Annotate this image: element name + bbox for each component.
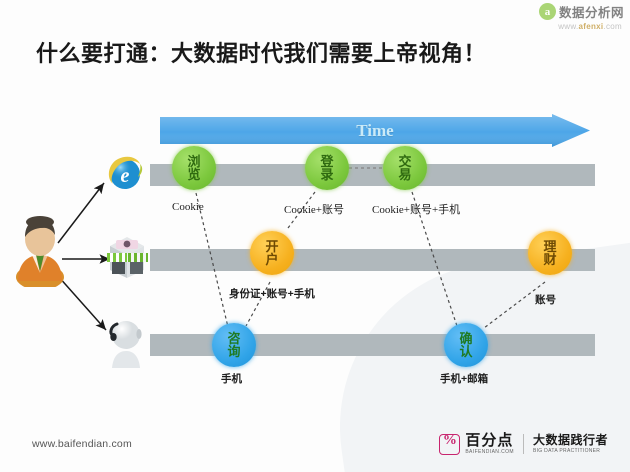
baifendian-name-en: BAIFENDIAN.COM: [465, 450, 514, 455]
link-liulan-zixun: [196, 193, 228, 327]
logo-divider: [523, 434, 524, 454]
node-zixun[interactable]: 咨询: [212, 323, 256, 367]
browser-ie-icon: e: [104, 152, 146, 194]
node-zixun-label: 咨询: [228, 332, 241, 358]
caption-jiaoyi: Cookie+账号+手机: [372, 201, 460, 217]
customer-avatar: [12, 215, 68, 287]
watermark: a 数据分析网 www.afenxi.com: [539, 2, 624, 31]
watermark-site-name: 数据分析网: [559, 2, 624, 21]
watermark-url-suffix: .com: [603, 22, 622, 31]
caption-denglu: Cookie+账号: [284, 201, 344, 217]
node-liulan-label: 浏览: [188, 155, 201, 181]
node-licai-label: 理财: [544, 240, 557, 266]
page-title: 什么要打通：大数据时代我们需要上帝视角！: [36, 36, 486, 68]
footer-url[interactable]: www.baifendian.com: [32, 438, 132, 450]
caption-kaihu: 身份证+账号+手机: [229, 286, 315, 301]
watermark-url-prefix: www.: [558, 22, 578, 31]
node-queren-label: 确认: [460, 332, 473, 358]
node-kaihu[interactable]: 开户: [250, 231, 294, 275]
slide-canvas: a 数据分析网 www.afenxi.com 什么要打通：大数据时代我们需要上帝…: [0, 0, 630, 472]
baifendian-name-cn: 百分点: [465, 433, 514, 448]
store-front-icon: [102, 234, 152, 284]
caption-licai: 账号: [535, 292, 556, 307]
baifendian-mark-icon: [439, 434, 460, 455]
node-denglu-label: 登录: [321, 155, 334, 181]
caption-queren: 手机+邮箱: [440, 371, 488, 386]
watermark-row: a 数据分析网: [539, 2, 624, 21]
node-jiaoyi-label: 交易: [399, 155, 412, 181]
node-kaihu-label: 开户: [266, 240, 279, 266]
node-queren[interactable]: 确认: [444, 323, 488, 367]
svg-text:e: e: [121, 165, 130, 187]
slogan-cn: 大数据践行者: [533, 434, 608, 446]
caption-liulan: Cookie: [172, 201, 204, 213]
watermark-badge-icon: a: [539, 3, 556, 20]
node-licai[interactable]: 理财: [528, 231, 572, 275]
baifendian-wordmark: 百分点 BAIFENDIAN.COM: [465, 433, 514, 455]
customer-service-icon: [104, 318, 148, 368]
watermark-url-brand: afenxi: [579, 22, 604, 31]
baifendian-slogan: 大数据践行者 BIG DATA PRACTITIONER: [533, 434, 608, 454]
node-liulan[interactable]: 浏览: [172, 146, 216, 190]
caption-zixun: 手机: [221, 371, 242, 386]
node-jiaoyi[interactable]: 交易: [383, 146, 427, 190]
watermark-url: www.afenxi.com: [558, 22, 622, 31]
slogan-en: BIG DATA PRACTITIONER: [533, 449, 608, 454]
footer-logo: 百分点 BAIFENDIAN.COM 大数据践行者 BIG DATA PRACT…: [439, 433, 608, 455]
time-arrow: [160, 114, 590, 147]
node-denglu[interactable]: 登录: [305, 146, 349, 190]
